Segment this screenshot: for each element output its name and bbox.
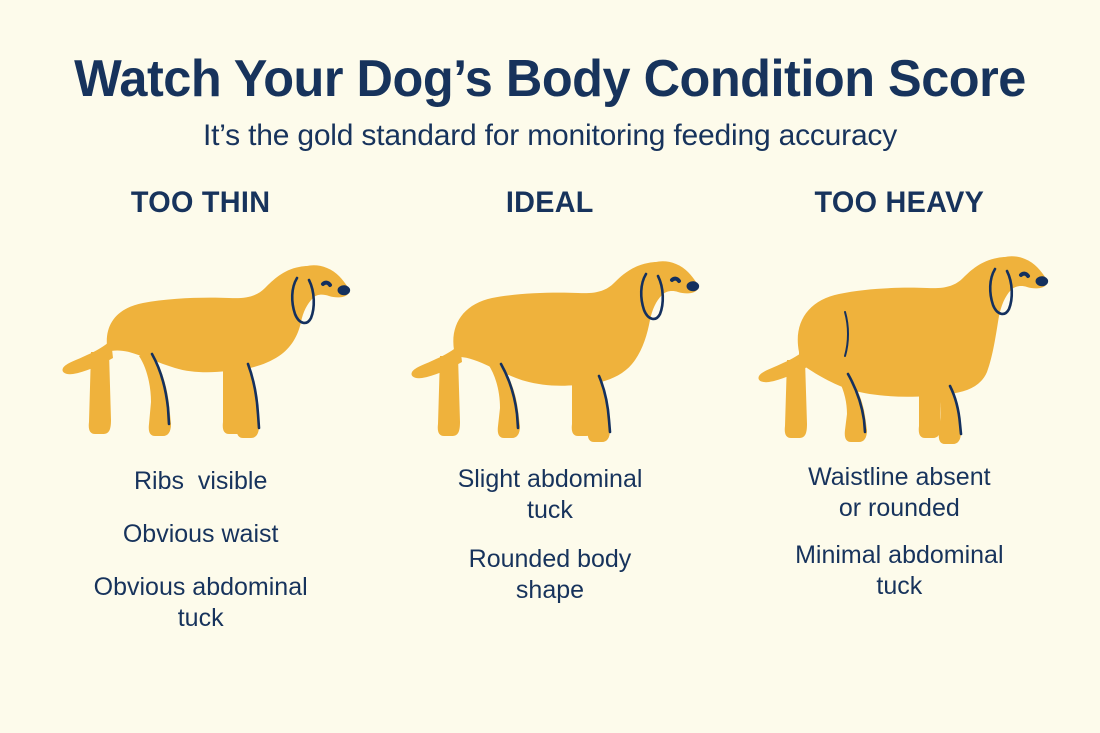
score-columns: TOO THIN bbox=[0, 186, 1100, 634]
note-item: Obvious abdominal tuck bbox=[56, 572, 346, 634]
body-condition-score-infographic: Watch Your Dog’s Body Condition Score It… bbox=[0, 0, 1100, 733]
notes-too-thin: Ribs visible Obvious waist Obvious abdom… bbox=[56, 466, 346, 634]
note-item: Rounded body shape bbox=[405, 544, 695, 606]
dog-thin-illustration bbox=[46, 234, 356, 446]
dog-nose bbox=[1036, 276, 1049, 286]
dog-heavy-illustration bbox=[744, 234, 1054, 446]
note-item: Obvious waist bbox=[56, 519, 346, 550]
column-too-heavy: TOO HEAVY bbox=[725, 186, 1074, 634]
dog-body-shape bbox=[411, 261, 697, 442]
column-heading-too-thin: TOO THIN bbox=[131, 186, 270, 220]
note-item: Waistline absent or rounded bbox=[754, 462, 1044, 524]
dog-ideal-illustration bbox=[395, 234, 705, 446]
note-item: Slight abdominal tuck bbox=[405, 464, 695, 526]
page-title: Watch Your Dog’s Body Condition Score bbox=[17, 52, 1084, 107]
column-ideal: IDEAL bbox=[375, 186, 724, 634]
dog-body-shape bbox=[759, 256, 1047, 444]
note-item: Minimal abdominal tuck bbox=[754, 540, 1044, 602]
column-heading-ideal: IDEAL bbox=[506, 186, 594, 220]
header: Watch Your Dog’s Body Condition Score It… bbox=[0, 0, 1100, 152]
notes-ideal: Slight abdominal tuck Rounded body shape bbox=[405, 464, 695, 624]
note-item: Ribs visible bbox=[56, 466, 346, 497]
column-too-thin: TOO THIN bbox=[26, 186, 375, 634]
column-heading-too-heavy: TOO HEAVY bbox=[815, 186, 985, 220]
notes-too-heavy: Waistline absent or rounded Minimal abdo… bbox=[754, 462, 1044, 618]
page-subtitle: It’s the gold standard for monitoring fe… bbox=[0, 119, 1100, 152]
dog-nose bbox=[687, 281, 700, 291]
dog-body-shape bbox=[62, 265, 348, 438]
dog-nose bbox=[337, 285, 350, 295]
